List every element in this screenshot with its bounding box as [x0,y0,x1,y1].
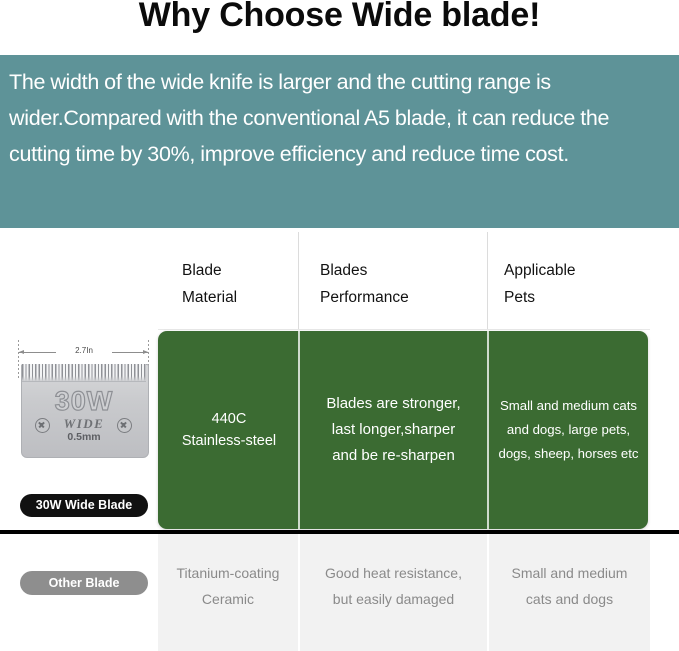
cell-other-blade-material: Titanium-coating Ceramic [158,534,298,638]
column-header-applicable-pets-line1: Applicable [504,257,654,284]
cell-wide-blade-performance: Blades are stronger, last longer,sharper… [300,331,487,529]
cell-other-blade-performance: Good heat resistance, but easily damaged [300,534,487,638]
cell-other-blade-pets-line1: Small and medium [512,560,628,586]
cell-other-blade-material-line1: Titanium-coating [177,560,280,586]
badge-wide-blade: 30W Wide Blade [20,494,148,517]
header-divider-2 [487,232,488,330]
column-header-applicable-pets-line2: Pets [504,284,654,311]
table-row-wide-blade: 440C Stainless-steel Blades are stronger… [158,331,648,529]
column-header-blades-performance-line2: Performance [320,284,480,311]
header-underline [158,329,650,330]
cell-wide-blade-pets-line3: dogs, sheep, horses etc [498,442,638,466]
cell-wide-blade-pets: Small and medium cats and dogs, large pe… [489,331,648,529]
column-header-blades-performance: Blades Performance [320,257,480,311]
table-row-other-blade: Titanium-coating Ceramic Good heat resis… [158,534,650,651]
cell-other-blade-pets-line2: cats and dogs [512,586,628,612]
table-header-row: Blade Material Blades Performance Applic… [0,230,679,330]
blade-teeth-shadow [22,376,146,381]
dimension-arrow-left-icon [19,350,24,354]
infographic-page: Why Choose Wide blade! The width of the … [0,0,679,651]
column-header-blade-material-line1: Blade [182,257,292,284]
page-title: Why Choose Wide blade! [0,0,679,38]
cell-other-blade-material-line2: Ceramic [177,586,280,612]
cell-wide-blade-material: 440C Stainless-steel [160,331,298,529]
blade-model-text: 30W [21,386,147,416]
cell-wide-blade-material-line1: 440C [182,408,276,430]
dimension-arrow-right-icon [143,350,148,354]
cell-wide-blade-performance-line2: last longer,sharper [326,417,460,443]
cell-wide-blade-performance-line1: Blades are stronger, [326,391,460,417]
header-divider-0 [157,232,158,330]
column-header-blade-material: Blade Material [182,257,292,311]
cell-other-blade-performance-line1: Good heat resistance, [325,560,462,586]
badge-other-blade: Other Blade [20,571,148,595]
column-header-blades-performance-line1: Blades [320,257,480,284]
screw-left-icon [35,418,50,433]
screw-right-icon [117,418,132,433]
cell-other-blade-performance-line2: but easily damaged [325,586,462,612]
description-banner: The width of the wide knife is larger an… [0,55,679,228]
description-text: The width of the wide knife is larger an… [9,64,669,172]
cell-wide-blade-pets-line1: Small and medium cats [498,394,638,418]
dimension-guide-left [18,340,19,380]
cell-wide-blade-pets-line2: and dogs, large pets, [498,418,638,442]
column-header-blade-material-line2: Material [182,284,292,311]
header-divider-1 [298,232,299,330]
cell-wide-blade-material-line2: Stainless-steel [182,430,276,452]
cell-other-blade-pets: Small and medium cats and dogs [489,534,650,638]
dimension-label: 2.7In [56,344,112,358]
cell-wide-blade-performance-line3: and be re-sharpen [326,443,460,469]
column-header-applicable-pets: Applicable Pets [504,257,654,311]
